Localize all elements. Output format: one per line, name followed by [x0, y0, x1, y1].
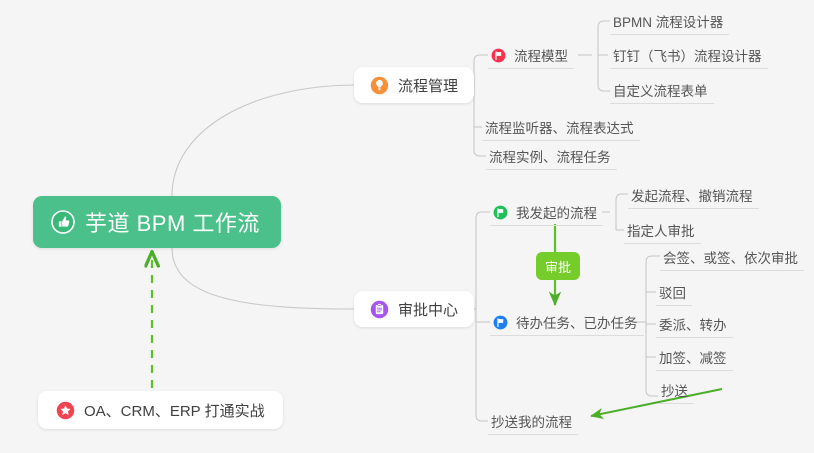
node-cc-to-me-process[interactable]: 抄送我的流程	[488, 408, 578, 435]
node-integration-practice[interactable]: OA、CRM、ERP 打通实战	[38, 391, 283, 429]
label-my-initiated-process: 我发起的流程	[516, 202, 597, 222]
annotation-chip-approval-label: 审批	[545, 257, 571, 276]
star-icon	[56, 401, 75, 420]
lightbulb-icon	[370, 76, 389, 95]
clipboard-icon	[370, 300, 389, 319]
annotation-chip-approval: 审批	[536, 252, 580, 280]
label-assignee-approval: 指定人审批	[627, 220, 695, 240]
node-delegate-transfer[interactable]: 委派、转办	[656, 311, 733, 338]
node-carbon-copy[interactable]: 抄送	[658, 377, 694, 404]
node-bpmn-designer[interactable]: BPMN 流程设计器	[610, 8, 729, 35]
node-process-model[interactable]: 流程模型	[488, 42, 574, 69]
thumbs-up-icon	[51, 210, 75, 234]
label-process-model: 流程模型	[514, 45, 568, 65]
flag-icon-green	[493, 205, 508, 220]
node-dingtalk-feishu-designer[interactable]: 钉钉（飞书）流程设计器	[610, 42, 768, 69]
node-reject[interactable]: 驳回	[656, 279, 692, 306]
arrow-cc-link	[591, 389, 722, 416]
node-add-remove-sign[interactable]: 加签、减签	[656, 344, 733, 371]
label-start-cancel-process: 发起流程、撤销流程	[631, 185, 753, 205]
label-dingtalk-feishu-designer: 钉钉（飞书）流程设计器	[613, 45, 762, 65]
branch-node-approval-center[interactable]: 审批中心	[354, 291, 474, 327]
label-add-remove-sign: 加签、减签	[659, 347, 727, 367]
wire-pm-child-1	[474, 55, 488, 61]
node-countersign-or-sign-sequential[interactable]: 会签、或签、依次审批	[660, 244, 804, 271]
mindmap-canvas: 芋道 BPM 工作流 流程管理 流程模型 BPMN 流程设计器 钉钉（飞书）流	[0, 0, 814, 453]
wire-ac-child-3	[476, 415, 488, 421]
node-process-listener-expression[interactable]: 流程监听器、流程表达式	[482, 114, 640, 141]
node-start-cancel-process[interactable]: 发起流程、撤销流程	[628, 182, 759, 209]
wire-root-to-process-management	[172, 85, 354, 196]
label-integration-practice: OA、CRM、ERP 打通实战	[84, 400, 265, 421]
wire-todo-child-1	[646, 256, 660, 262]
label-carbon-copy: 抄送	[661, 380, 688, 400]
root-label: 芋道 BPM 工作流	[85, 206, 260, 238]
label-cc-to-me-process: 抄送我的流程	[491, 411, 572, 431]
flag-icon-red	[491, 48, 506, 63]
label-custom-process-form: 自定义流程表单	[613, 80, 708, 100]
node-my-initiated-process[interactable]: 我发起的流程	[490, 199, 603, 226]
wire-pm-child-3	[474, 150, 486, 156]
label-countersign-or-sign-sequential: 会签、或签、依次审批	[663, 247, 798, 267]
wire-model-child-3	[598, 85, 610, 91]
label-delegate-transfer: 委派、转办	[659, 314, 727, 334]
wire-root-to-approval-center	[172, 248, 354, 309]
label-bpmn-designer: BPMN 流程设计器	[613, 11, 723, 31]
label-process-instance-task: 流程实例、流程任务	[489, 146, 611, 166]
root-node[interactable]: 芋道 BPM 工作流	[33, 196, 281, 248]
branch-label-approval-center: 审批中心	[398, 299, 458, 320]
branch-label-process-management: 流程管理	[398, 75, 458, 96]
node-todo-done-tasks[interactable]: 待办任务、已办任务	[490, 309, 644, 336]
node-process-instance-task[interactable]: 流程实例、流程任务	[486, 143, 617, 170]
flag-icon-blue	[493, 315, 508, 330]
node-custom-process-form[interactable]: 自定义流程表单	[610, 77, 714, 104]
wire-mine-child-1	[616, 194, 628, 200]
wire-model-child-1	[598, 21, 610, 27]
node-assignee-approval[interactable]: 指定人审批	[624, 217, 701, 244]
label-reject: 驳回	[659, 282, 686, 302]
label-process-listener-expression: 流程监听器、流程表达式	[485, 117, 634, 137]
wire-todo-child-5	[646, 390, 658, 396]
branch-node-process-management[interactable]: 流程管理	[354, 67, 474, 103]
wire-ac-child-1	[476, 212, 490, 218]
label-todo-done-tasks: 待办任务、已办任务	[516, 312, 638, 332]
